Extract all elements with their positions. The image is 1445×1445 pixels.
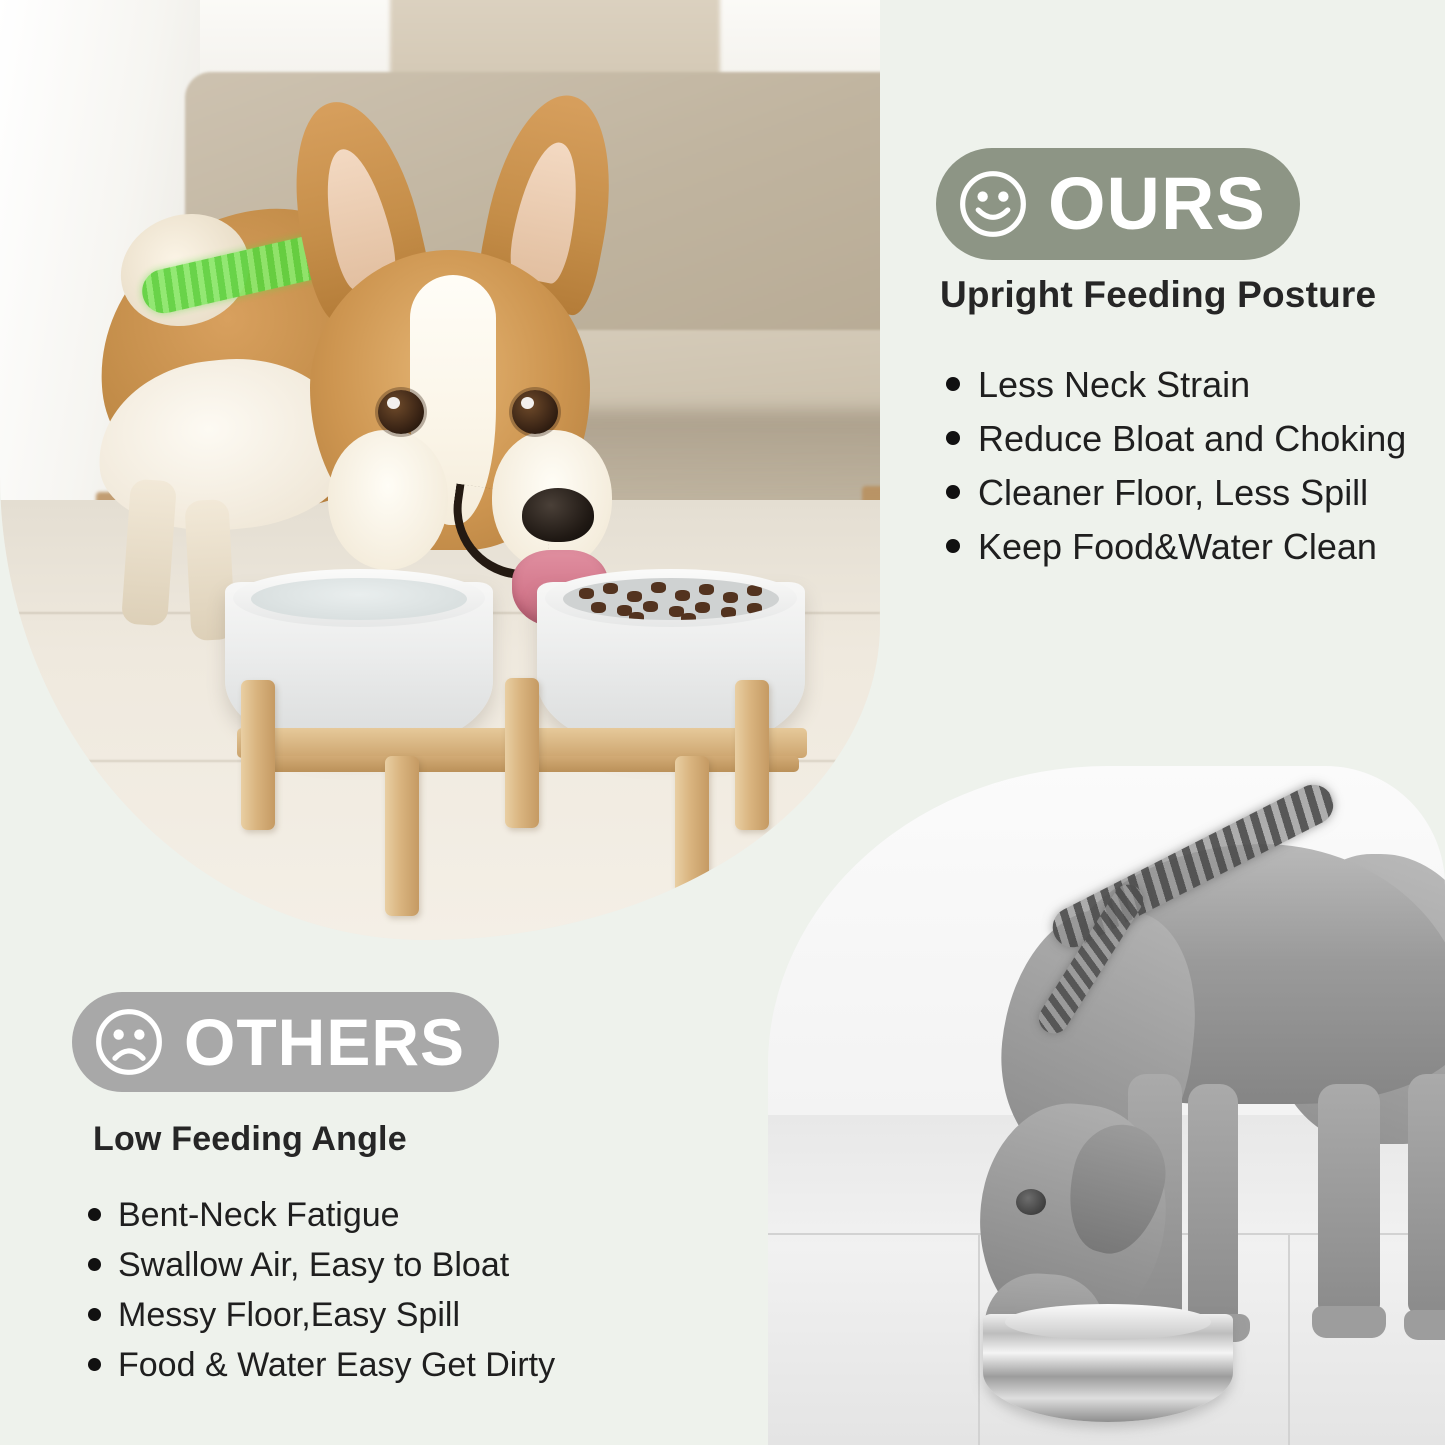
stand-leg <box>505 678 539 828</box>
stand-leg <box>675 756 709 916</box>
corgi-cheek <box>328 430 448 570</box>
bullet-icon <box>946 485 960 499</box>
list-item: Cleaner Floor, Less Spill <box>946 472 1406 526</box>
corgi-leg <box>121 479 177 627</box>
smiley-face-icon <box>956 167 1030 241</box>
corgi-ear-inner <box>505 137 589 285</box>
bullet-icon <box>946 539 960 553</box>
list-item: Food & Water Easy Get Dirty <box>88 1346 555 1396</box>
infographic-stage: OURS Upright Feeding Posture Less Neck S… <box>0 0 1445 1445</box>
ours-heading: Upright Feeding Posture <box>940 274 1376 316</box>
list-item-label: Cleaner Floor, Less Spill <box>978 472 1368 514</box>
ours-badge-label: OURS <box>1048 167 1266 241</box>
bullet-icon <box>88 1258 101 1271</box>
dog-paw <box>1404 1310 1445 1340</box>
list-item: Messy Floor,Easy Spill <box>88 1296 555 1346</box>
frowning-face-icon <box>92 1005 166 1079</box>
list-item-label: Swallow Air, Easy to Bloat <box>118 1246 509 1285</box>
others-drawback-list: Bent-Neck Fatigue Swallow Air, Easy to B… <box>88 1196 555 1396</box>
dog-eye <box>1016 1189 1046 1215</box>
list-item: Reduce Bloat and Choking <box>946 418 1406 472</box>
bullet-icon <box>946 431 960 445</box>
list-item-label: Food & Water Easy Get Dirty <box>118 1346 555 1385</box>
grayscale-dog <box>888 774 1445 1434</box>
list-item-label: Messy Floor,Easy Spill <box>118 1296 460 1335</box>
dog-hind-leg <box>1318 1084 1380 1314</box>
dog-front-leg <box>1188 1084 1238 1324</box>
bullet-icon <box>88 1208 101 1221</box>
list-item-label: Keep Food&Water Clean <box>978 526 1377 568</box>
stand-leg <box>241 680 275 830</box>
stainless-steel-floor-bowl <box>983 1314 1233 1422</box>
elevated-double-bowl-feeder <box>215 560 815 920</box>
bullet-icon <box>88 1308 101 1321</box>
corgi-nose <box>522 488 594 542</box>
water-surface <box>251 578 467 620</box>
list-item: Keep Food&Water Clean <box>946 526 1406 580</box>
others-badge-label: OTHERS <box>184 1009 465 1075</box>
kibble-surface <box>563 578 779 620</box>
bullet-icon <box>946 377 960 391</box>
list-item-label: Bent-Neck Fatigue <box>118 1196 400 1235</box>
corgi-eye-right <box>512 390 558 434</box>
stand-leg <box>735 680 769 830</box>
others-heading: Low Feeding Angle <box>93 1120 407 1159</box>
list-item: Less Neck Strain <box>946 364 1406 418</box>
corgi-eye-left <box>378 390 424 434</box>
ours-benefit-list: Less Neck Strain Reduce Bloat and Chokin… <box>946 364 1406 580</box>
others-product-photo <box>768 766 1445 1445</box>
others-badge: OTHERS <box>72 992 499 1092</box>
dog-hind-leg <box>1408 1074 1445 1314</box>
list-item-label: Reduce Bloat and Choking <box>978 418 1406 460</box>
list-item-label: Less Neck Strain <box>978 364 1250 406</box>
stand-leg <box>385 756 419 916</box>
bullet-icon <box>88 1358 101 1371</box>
ours-badge: OURS <box>936 148 1300 260</box>
list-item: Bent-Neck Fatigue <box>88 1196 555 1246</box>
list-item: Swallow Air, Easy to Bloat <box>88 1246 555 1296</box>
dog-paw <box>1312 1306 1386 1338</box>
ours-product-photo <box>0 0 880 940</box>
